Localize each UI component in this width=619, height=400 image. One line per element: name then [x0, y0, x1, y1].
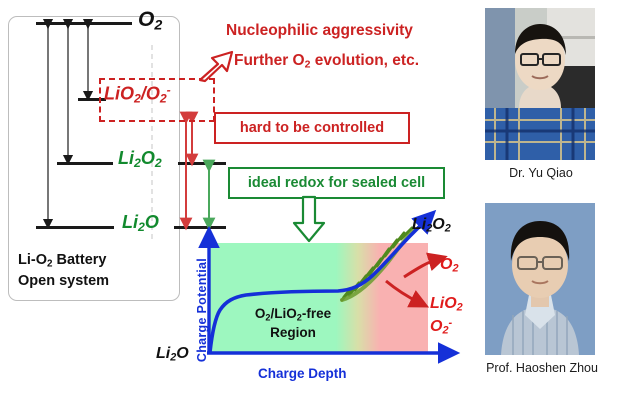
photo-caption-qiao: Dr. Yu Qiao — [486, 166, 596, 180]
energy-level-label-li2o2: Li2O2 — [118, 148, 162, 170]
annotation-further-evolution: Further O2 evolution, etc. — [234, 52, 419, 71]
photo-caption-zhou: Prof. Haoshen Zhou — [472, 361, 612, 375]
energy-level-li2o2-bar-left — [57, 162, 113, 165]
energy-level-li2o2-bar-right — [178, 162, 226, 165]
energy-level-li2o-bar-right — [174, 226, 226, 229]
caption-line-2: Open system — [18, 271, 168, 291]
energy-panel-caption: Li-O2 Battery Open system — [18, 250, 168, 291]
chart-product-label-o2: O2 — [440, 256, 459, 275]
energy-level-label-o2: O2 — [138, 8, 162, 34]
outline-arrow-up-right-icon — [198, 44, 244, 86]
photo-prof-haoshen-zhou — [485, 203, 595, 355]
energy-level-li2o-bar-left — [36, 226, 114, 229]
portrait-zhou-illustration — [485, 203, 595, 355]
callout-ideal-redox: ideal redox for sealed cell — [228, 167, 445, 199]
chart-start-label: Li2O — [156, 345, 189, 364]
chart-product-label-lio2: LiO2 — [430, 295, 463, 314]
caption-line-1: Li-O2 Battery — [18, 250, 168, 271]
portrait-qiao-illustration — [485, 8, 595, 160]
energy-level-label-lio2: LiO2/O2- — [104, 83, 171, 106]
chart-product-label-o2-minus: O2- — [430, 317, 452, 337]
energy-level-o2-bar — [36, 22, 132, 25]
photo-dr-yu-qiao — [485, 8, 595, 160]
chart-end-label: Li2O2 — [412, 216, 451, 235]
chart-xlabel: Charge Depth — [258, 366, 347, 381]
annotation-nucleophilic: Nucleophilic aggressivity — [226, 22, 413, 40]
outline-arrow-down-icon — [292, 196, 326, 244]
chart-region-label: O2/LiO2-freeRegion — [228, 305, 358, 342]
chart-ylabel: Charge Potential — [196, 258, 214, 362]
callout-hard-to-be-controlled: hard to be controlled — [214, 112, 410, 144]
energy-level-label-li2o: Li2O — [122, 212, 159, 234]
